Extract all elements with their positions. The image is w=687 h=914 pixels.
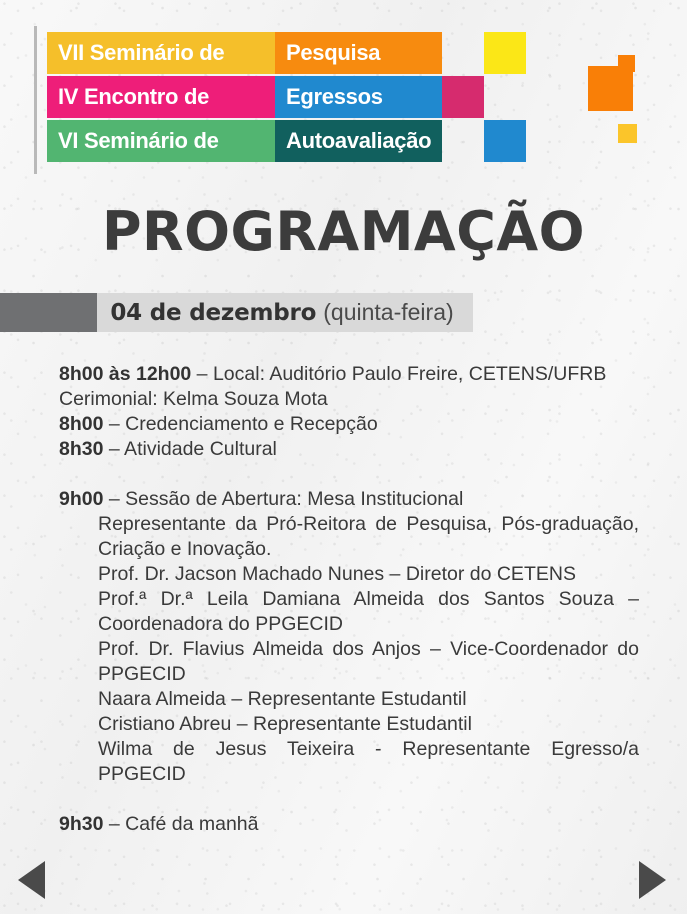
schedule-time: 8h00 — [59, 413, 103, 435]
schedule-subline: Wilma de Jesus Teixeira - Representante … — [98, 737, 639, 787]
schedule-subline: Cristiano Abreu – Representante Estudant… — [98, 712, 639, 737]
schedule-description: – Credenciamento e Recepção — [103, 413, 377, 435]
schedule-description: – Atividade Cultural — [103, 438, 276, 460]
accent-square-yellow-small — [618, 124, 637, 143]
schedule-time: 8h30 — [59, 438, 103, 460]
schedule-line: 8h30 – Atividade Cultural — [59, 437, 639, 462]
date-value: 04 de dezembro — [110, 300, 316, 326]
next-slide-arrow-icon[interactable] — [639, 861, 666, 899]
date-banner: 04 de dezembro (quinta-feira) — [0, 293, 473, 332]
schedule-block-1: 8h00 às 12h00 – Local: Auditório Paulo F… — [59, 362, 639, 462]
schedule-subline: Prof.ª Dr.ª Leila Damiana Almeida dos Sa… — [98, 587, 639, 637]
schedule-time: 9h00 — [59, 488, 103, 510]
schedule-list: 8h00 às 12h00 – Local: Auditório Paulo F… — [59, 362, 639, 837]
schedule-description: – Café da manhã — [103, 813, 258, 835]
previous-slide-arrow-icon[interactable] — [18, 861, 45, 899]
schedule-line: Cerimonial: Kelma Souza Mota — [59, 387, 639, 412]
schedule-time: 8h00 às 12h00 — [59, 363, 191, 385]
schedule-line: 9h30 – Café da manhã — [59, 812, 639, 837]
schedule-line: 9h00 – Sessão de Abertura: Mesa Instituc… — [59, 487, 639, 512]
accent-square-orange-small — [618, 55, 635, 72]
date-banner-text: 04 de dezembro (quinta-feira) — [97, 293, 473, 332]
schedule-subline: Representante da Pró-Reitora de Pesquisa… — [98, 512, 639, 562]
schedule-subline: Naara Almeida – Representante Estudantil — [98, 687, 639, 712]
schedule-subline: Prof. Dr. Flavius Almeida dos Anjos – Vi… — [98, 637, 639, 687]
schedule-block-3: 9h30 – Café da manhã — [59, 812, 639, 837]
schedule-spacer — [59, 787, 639, 812]
schedule-line: 8h00 às 12h00 – Local: Auditório Paulo F… — [59, 362, 639, 387]
schedule-spacer — [59, 462, 639, 487]
schedule-line: 8h00 – Credenciamento e Recepção — [59, 412, 639, 437]
schedule-time: 9h30 — [59, 813, 103, 835]
schedule-subline: Prof. Dr. Jacson Machado Nunes – Diretor… — [98, 562, 639, 587]
accent-square-orange-large — [588, 66, 633, 111]
schedule-block-2: 9h00 – Sessão de Abertura: Mesa Instituc… — [59, 487, 639, 787]
schedule-description: – Local: Auditório Paulo Freire, CETENS/… — [191, 363, 606, 385]
date-banner-block — [0, 293, 97, 332]
page-title: PROGRAMAÇÃO — [0, 200, 687, 263]
schedule-description: – Sessão de Abertura: Mesa Institucional — [103, 488, 463, 510]
schedule-description: Cerimonial: Kelma Souza Mota — [59, 388, 328, 410]
date-weekday: (quinta-feira) — [323, 299, 453, 326]
